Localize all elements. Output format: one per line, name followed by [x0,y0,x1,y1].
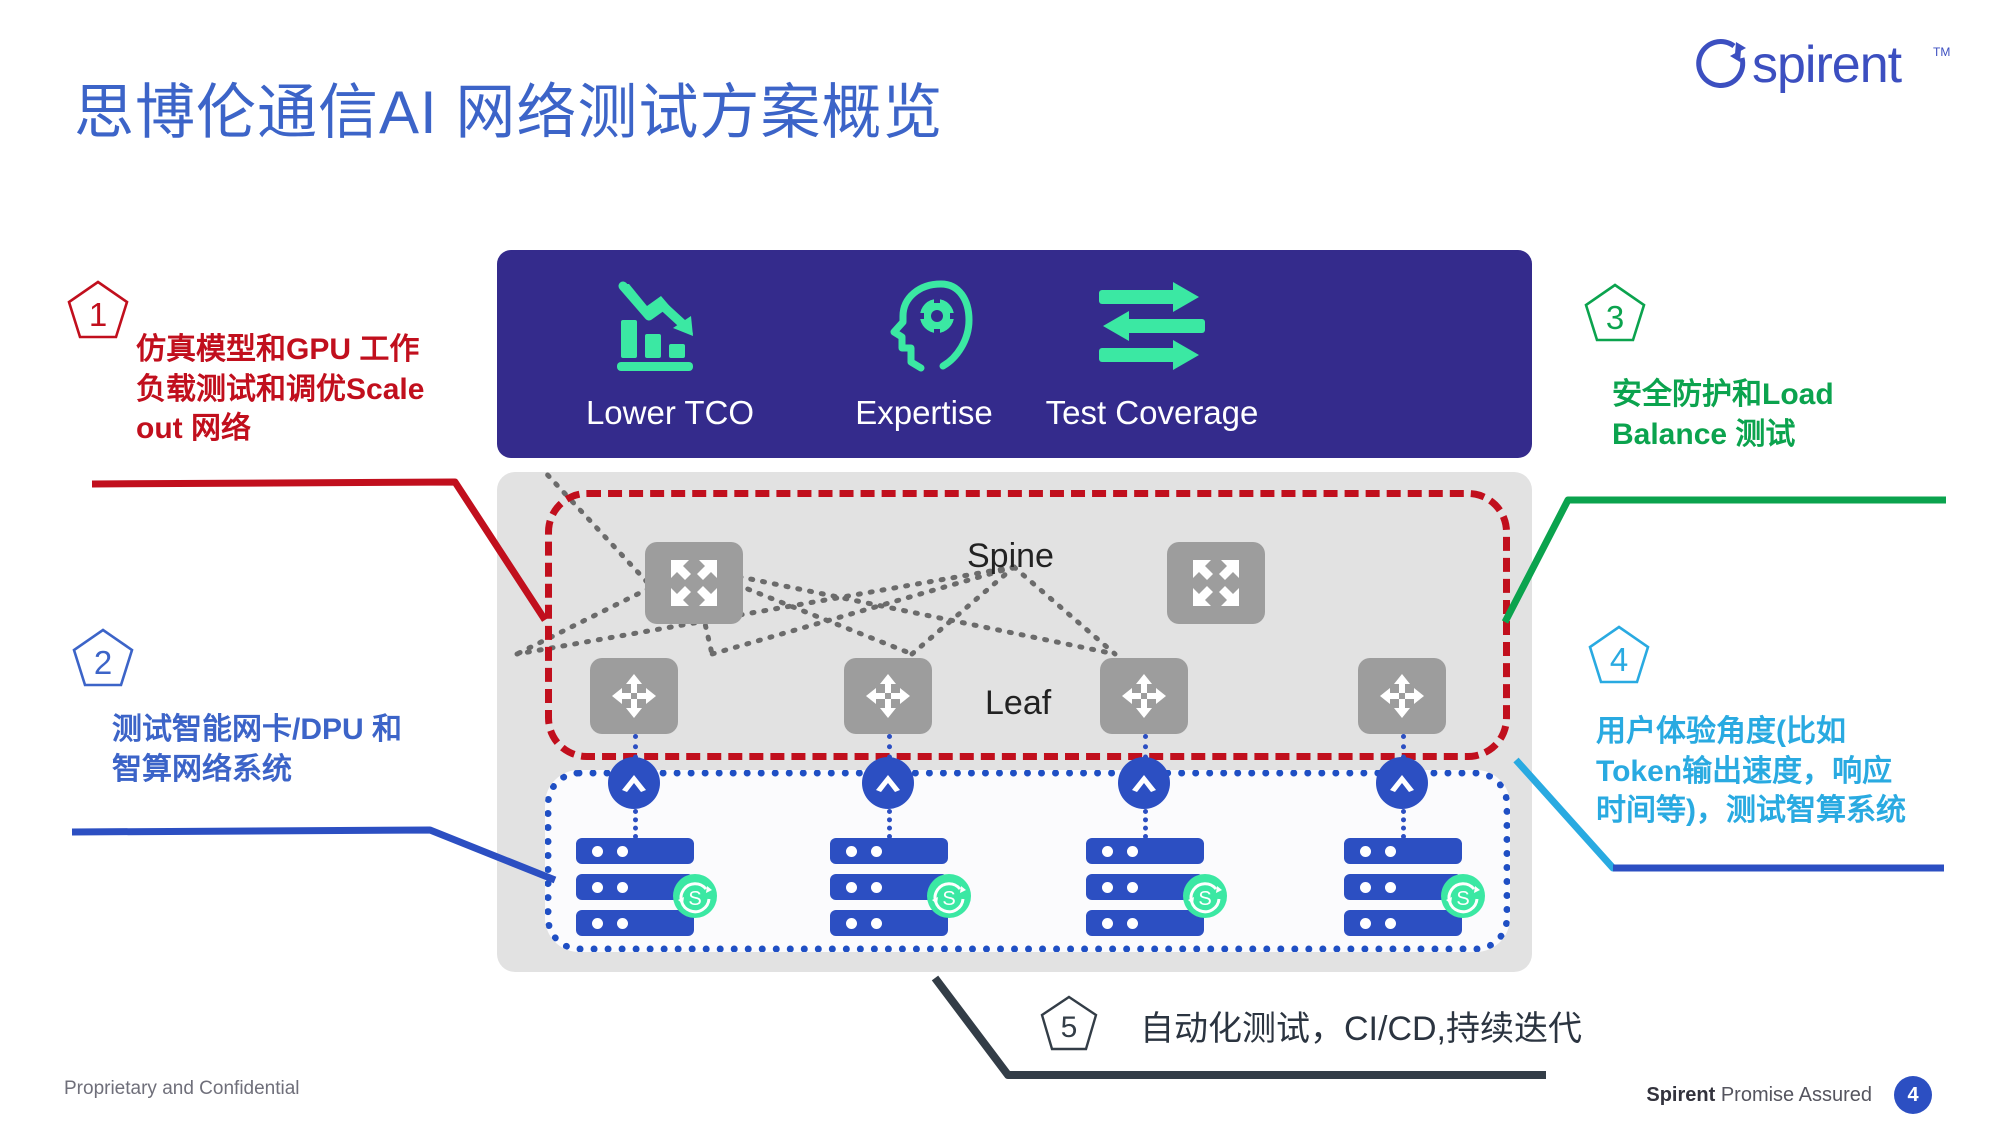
server-unit [830,838,948,864]
footer-brand: Spirent Promise Assured 4 [1646,1076,1932,1114]
server-led [1385,846,1396,857]
uplink-badge-3[interactable] [1118,757,1170,809]
connector-line-1 [92,482,545,620]
callout-text-2: 测试智能网卡/DPU 和 智算网络系统 [112,710,472,789]
svg-text:S: S [942,888,955,910]
four-way-arrows-icon [1378,672,1426,720]
callout-badge-3[interactable]: 3 [1582,283,1648,353]
server-led [846,882,857,893]
callout-badge-5[interactable]: 5 [1038,995,1100,1061]
connector-line-2 [72,830,555,880]
callout-text-3: 安全防护和Load Balance 测试 [1612,375,1962,454]
value-item-test-coverage: Test Coverage [1037,272,1267,432]
page-title: 思博伦通信AI 网络测试方案概览 [74,78,943,147]
server-led [1102,846,1113,857]
svg-text:S: S [1198,888,1211,910]
value-item-label: Lower TCO [555,394,785,432]
spine-tier-label: Spine [967,537,1054,576]
value-proposition-banner: Lower TCO Expertise [497,250,1532,458]
callout-badge-1[interactable]: 1 [65,280,131,350]
server-uplink-line-1 [633,809,638,839]
connector-line-3 [1505,500,1946,622]
leaf-switch-1[interactable] [590,658,678,734]
callout-line: 智算网络系统 [112,750,472,790]
footer-brand-name: Spirent [1646,1084,1715,1106]
value-item-label: Expertise [809,394,1039,432]
callout-line: 仿真模型和GPU 工作 [136,330,466,370]
server-led [846,918,857,929]
value-item-expertise: Expertise [809,272,1039,432]
spirent-logo-svg: spirent TM [1690,32,1960,104]
server-led [871,918,882,929]
spirent-logo: spirent TM [1690,32,1960,104]
server-led [1127,846,1138,857]
server-led [1127,918,1138,929]
svg-text:S: S [1456,888,1469,910]
server-uplink-line-4 [1401,809,1406,839]
callout-number: 3 [1582,283,1648,353]
server-led [871,846,882,857]
four-way-arrows-icon [610,672,658,720]
footer-brand-text: Spirent Promise Assured [1646,1084,1872,1107]
server-uplink-line-3 [1143,809,1148,839]
expand-arrows-icon [1189,556,1243,610]
callout-line: 测试智能网卡/DPU 和 [112,710,472,750]
expand-arrows-icon [667,556,721,610]
chevron-up-icon [875,773,901,793]
declining-bar-chart-icon [555,272,785,380]
page-number-badge: 4 [1894,1076,1932,1114]
spirent-s-badge-2: S [926,873,972,919]
uplink-badge-2[interactable] [862,757,914,809]
server-led [617,918,628,929]
server-unit [576,838,694,864]
server-led [1102,882,1113,893]
callout-line: 用户体验角度(比如 [1596,712,1996,752]
callout-number: 4 [1586,625,1652,695]
callout-line: Balance 测试 [1612,415,1962,455]
callout-number: 1 [65,280,131,350]
server-led [592,846,603,857]
server-led [1102,918,1113,929]
callout-line: Token输出速度，响应 [1596,752,1996,792]
server-led [1127,882,1138,893]
server-unit [1086,838,1204,864]
server-led [1360,918,1371,929]
spine-switch-2[interactable] [1167,542,1265,624]
footer-confidentiality-notice: Proprietary and Confidential [64,1078,300,1100]
callout-line: 安全防护和Load [1612,375,1962,415]
leaf-switch-3[interactable] [1100,658,1188,734]
svg-text:TM: TM [1933,45,1950,59]
callout-text-5: 自动化测试，CI/CD,持续迭代 [1140,1007,1660,1052]
server-led [1385,918,1396,929]
server-led [871,882,882,893]
leaf-switch-4[interactable] [1358,658,1446,734]
leaf-switch-2[interactable] [844,658,932,734]
server-led [592,882,603,893]
spirent-s-badge-4: S [1440,873,1486,919]
svg-text:spirent: spirent [1752,36,1903,94]
four-way-arrows-icon [1120,672,1168,720]
callout-text-4: 用户体验角度(比如 Token输出速度，响应 时间等)，测试智算系统 [1596,712,1996,831]
server-led [617,882,628,893]
callout-badge-4[interactable]: 4 [1586,625,1652,695]
svg-text:S: S [688,888,701,910]
server-led [1385,882,1396,893]
chevron-up-icon [1389,773,1415,793]
callout-text-1: 仿真模型和GPU 工作 负载测试和调优Scale out 网络 [136,330,466,449]
bidirectional-arrows-icon [1037,272,1267,380]
callout-badge-2[interactable]: 2 [70,628,136,698]
value-item-lower-tco: Lower TCO [555,272,785,432]
callout-number: 5 [1038,995,1100,1061]
server-led [846,846,857,857]
callout-line: out 网络 [136,409,466,449]
uplink-badge-1[interactable] [608,757,660,809]
server-led [1360,882,1371,893]
callout-line: 时间等)，测试智算系统 [1596,791,1996,831]
uplink-badge-4[interactable] [1376,757,1428,809]
server-uplink-line-2 [887,809,892,839]
head-gear-brain-icon [809,272,1039,380]
footer-brand-tagline: Promise Assured [1715,1084,1872,1106]
callout-number: 2 [70,628,136,698]
spirent-s-badge-1: S [672,873,718,919]
chevron-up-icon [1131,773,1157,793]
four-way-arrows-icon [864,672,912,720]
spine-switch-1[interactable] [645,542,743,624]
server-led [617,846,628,857]
leaf-tier-label: Leaf [985,684,1051,723]
server-unit [1344,838,1462,864]
chevron-up-icon [621,773,647,793]
server-led [592,918,603,929]
server-led [1360,846,1371,857]
callout-line: 负载测试和调优Scale [136,370,466,410]
value-item-label: Test Coverage [1037,394,1267,432]
spirent-s-badge-3: S [1182,873,1228,919]
